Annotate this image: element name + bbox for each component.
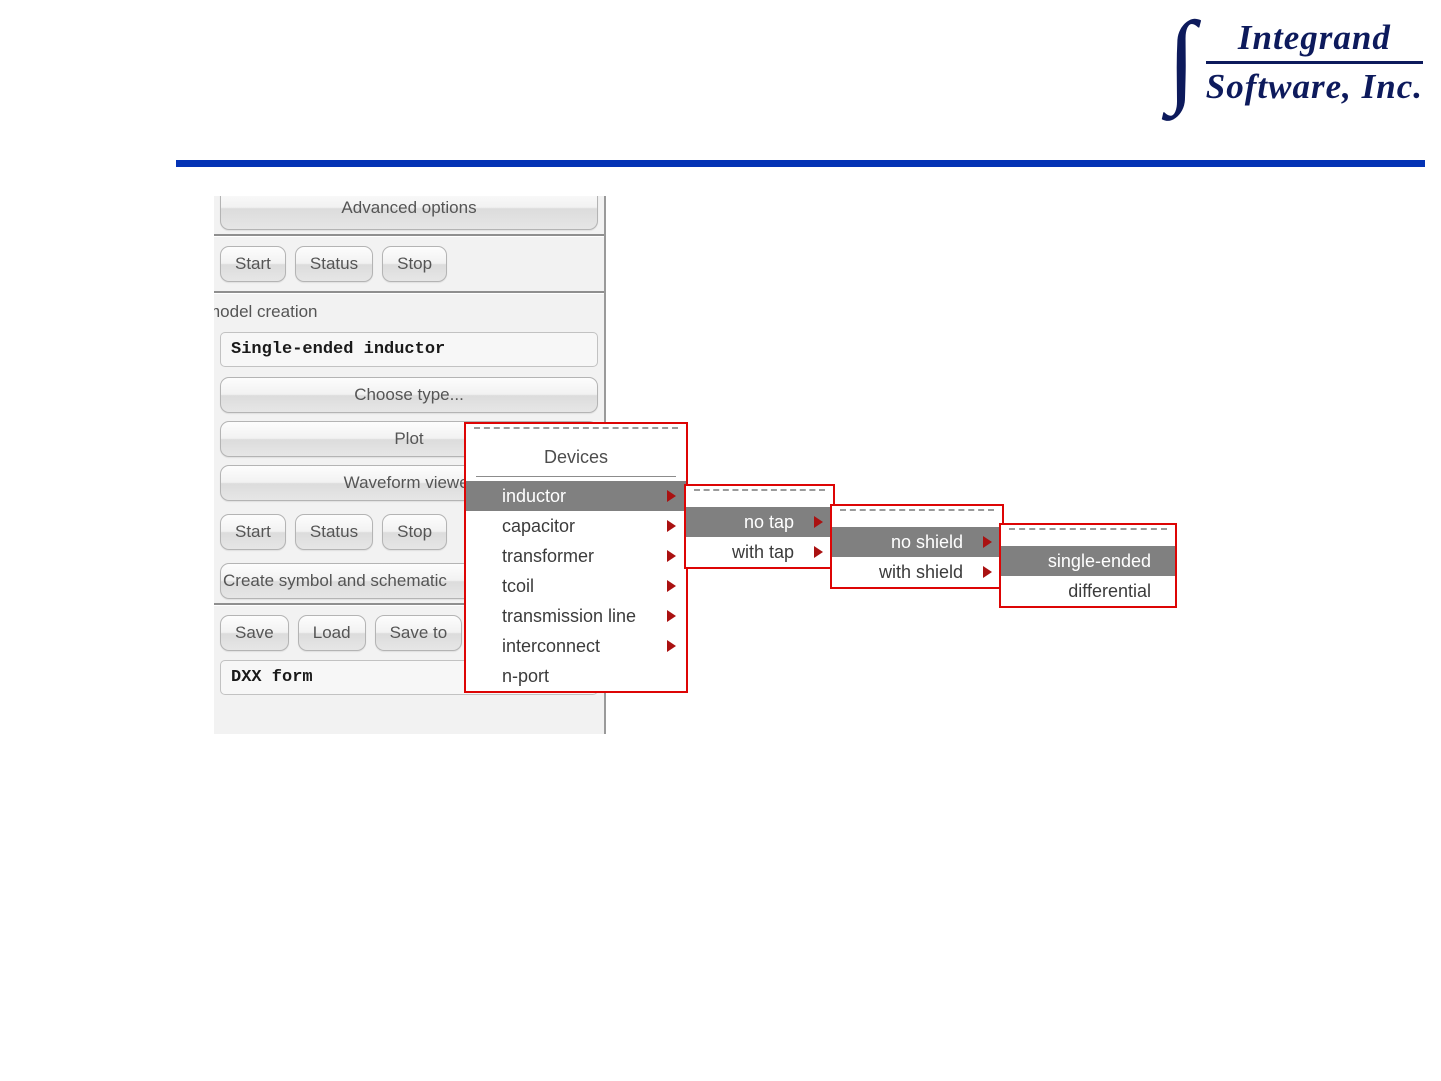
model-name-field[interactable]: Single-ended inductor — [220, 332, 598, 367]
menu-item-no-shield[interactable]: no shield — [832, 527, 1002, 557]
menu-item-capacitor[interactable]: capacitor — [466, 511, 686, 541]
menu-item-interconnect[interactable]: interconnect — [466, 631, 686, 661]
submenu-arrow-icon — [667, 580, 676, 592]
brand-line-software: Software, Inc. — [1206, 64, 1423, 107]
start-button-2[interactable]: Start — [220, 514, 286, 550]
start-button-1[interactable]: Start — [220, 246, 286, 282]
tearoff-handle-devices[interactable] — [474, 427, 678, 445]
menu-item-label: n-port — [502, 666, 661, 687]
menu-item-with-shield[interactable]: with shield — [832, 557, 1002, 587]
submenu-arrow-icon — [983, 536, 992, 548]
submenu-arrow-icon — [983, 566, 992, 578]
menu-devices: Devices inductor capacitor transformer t… — [464, 422, 688, 693]
brand-logo: ∫ Integrand Software, Inc. — [1167, 18, 1423, 107]
menu-item-label: transformer — [502, 546, 661, 567]
tearoff-handle-tap[interactable] — [694, 489, 825, 507]
choose-type-wrap: Choose type... — [214, 373, 604, 417]
submenu-arrow-icon — [667, 610, 676, 622]
menu-item-single-ended[interactable]: single-ended — [1001, 546, 1175, 576]
menu-tap: no tap with tap — [684, 484, 835, 569]
brand-line-integrand: Integrand — [1206, 18, 1423, 64]
menu-shield: no shield with shield — [830, 504, 1004, 589]
header-divider-rule — [176, 160, 1425, 167]
tearoff-handle-ended[interactable] — [1009, 528, 1167, 546]
menu-item-with-tap[interactable]: with tap — [686, 537, 833, 567]
menu-item-label: inductor — [502, 486, 661, 507]
integral-sign-icon: ∫ — [1167, 18, 1196, 99]
menu-item-tcoil[interactable]: tcoil — [466, 571, 686, 601]
menu-ended: single-ended differential — [999, 523, 1177, 608]
submenu-arrow-icon — [667, 550, 676, 562]
simulation-run-row-1: Start Status Stop — [214, 237, 604, 291]
choose-type-button[interactable]: Choose type... — [220, 377, 598, 413]
stop-button-1[interactable]: Stop — [382, 246, 447, 282]
menu-item-label: capacitor — [502, 516, 661, 537]
menu-item-n-port[interactable]: n-port — [466, 661, 686, 691]
submenu-arrow-placeholder-icon — [667, 670, 676, 682]
submenu-arrow-icon — [667, 640, 676, 652]
menu-item-label: no shield — [842, 532, 977, 553]
tearoff-handle-shield[interactable] — [840, 509, 994, 527]
menu-item-label: with tap — [696, 542, 808, 563]
menu-item-label: no tap — [696, 512, 808, 533]
submenu-arrow-icon — [814, 546, 823, 558]
advanced-options-button[interactable]: Advanced options — [220, 196, 598, 230]
model-creation-label: model creation — [214, 294, 604, 330]
brand-wordmark: Integrand Software, Inc. — [1206, 18, 1423, 107]
menu-item-transformer[interactable]: transformer — [466, 541, 686, 571]
menu-item-label: transmission line — [502, 606, 661, 627]
menu-item-no-tap[interactable]: no tap — [686, 507, 833, 537]
stop-button-2[interactable]: Stop — [382, 514, 447, 550]
menu-item-label: single-ended — [1011, 551, 1165, 572]
menu-item-transmission-line[interactable]: transmission line — [466, 601, 686, 631]
submenu-arrow-icon — [667, 490, 676, 502]
menu-item-label: with shield — [842, 562, 977, 583]
load-button[interactable]: Load — [298, 615, 366, 651]
status-button-2[interactable]: Status — [295, 514, 373, 550]
menu-item-differential[interactable]: differential — [1001, 576, 1175, 606]
menu-item-label: differential — [1011, 581, 1165, 602]
menu-item-label: interconnect — [502, 636, 661, 657]
advanced-options-section: Advanced options — [214, 196, 604, 234]
menu-title-devices: Devices — [466, 445, 686, 476]
submenu-arrow-icon — [667, 520, 676, 532]
menu-item-label: tcoil — [502, 576, 661, 597]
submenu-arrow-icon — [814, 516, 823, 528]
save-button[interactable]: Save — [220, 615, 289, 651]
save-to-button[interactable]: Save to — [375, 615, 463, 651]
menu-separator-devices — [476, 476, 676, 477]
advanced-options-wrap: Advanced options — [214, 196, 604, 234]
status-button-1[interactable]: Status — [295, 246, 373, 282]
menu-item-inductor[interactable]: inductor — [466, 481, 686, 511]
